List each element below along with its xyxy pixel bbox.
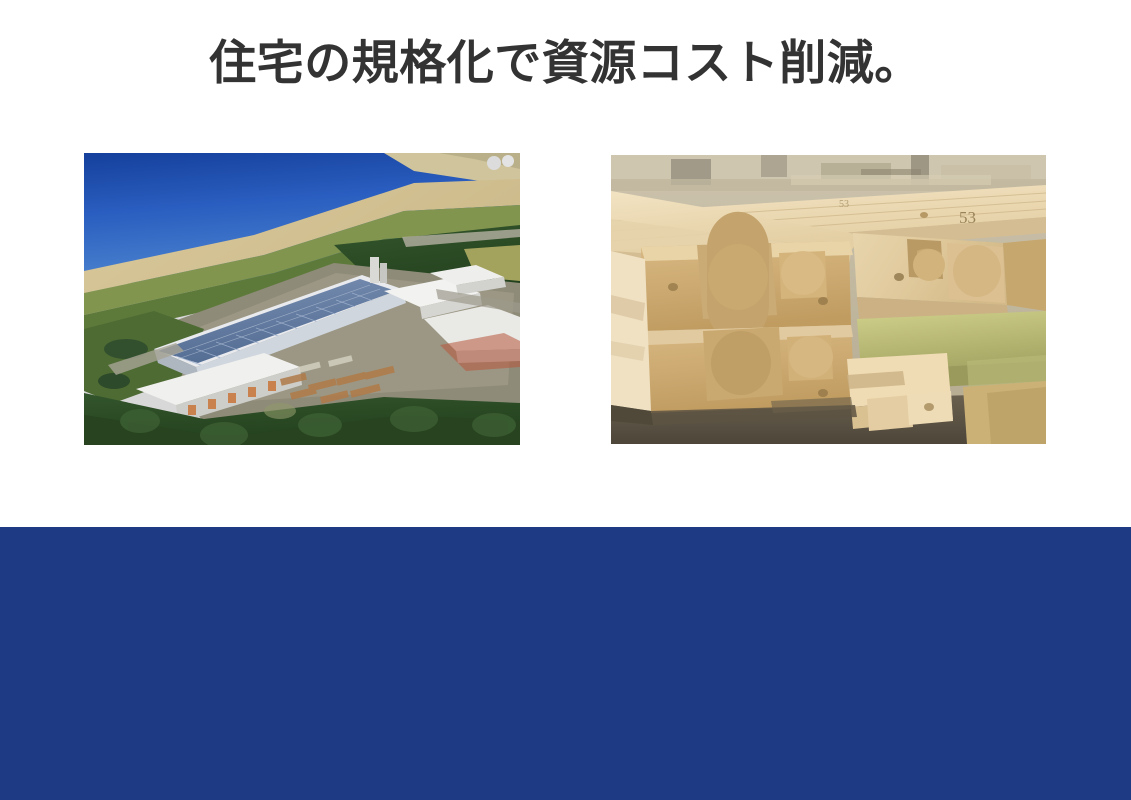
- svg-text:53: 53: [839, 199, 849, 210]
- photo-row: 53 53: [0, 153, 1131, 453]
- page-title: 住宅の規格化で資源コスト削減。: [0, 36, 1131, 90]
- slide-canvas: 住宅の規格化で資源コスト削減。: [0, 0, 1131, 800]
- precut-timber-illustration: 53 53: [611, 155, 1046, 444]
- precut-timber-photo: 53 53: [611, 155, 1046, 444]
- aerial-factory-photo: [84, 153, 520, 445]
- timber-stamp-label: 53: [959, 208, 976, 227]
- footer-band: 私たちは住宅の規格化を進め、全国で建てる木材の一部を自社工場で一括して製造するこ…: [0, 527, 1131, 800]
- aerial-factory-illustration: [84, 153, 520, 445]
